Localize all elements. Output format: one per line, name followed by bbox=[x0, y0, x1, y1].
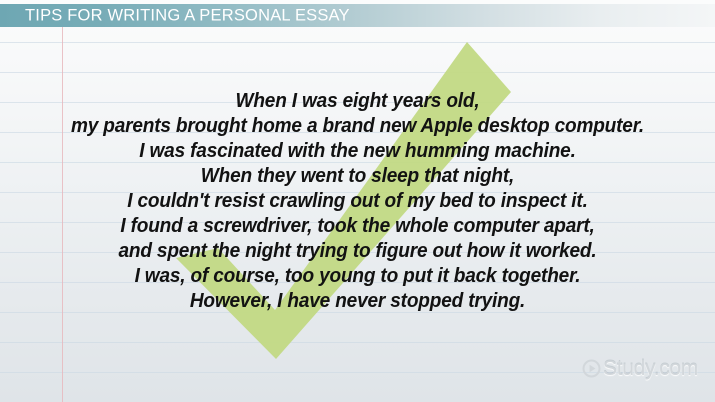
paper-rule bbox=[0, 42, 715, 43]
essay-line: I was, of course, too young to put it ba… bbox=[25, 263, 690, 288]
essay-line: and spent the night trying to figure out… bbox=[25, 238, 690, 263]
study-com-logo: Study.com bbox=[582, 358, 698, 379]
play-circle-icon bbox=[582, 359, 601, 378]
essay-line: my parents brought home a brand new Appl… bbox=[25, 113, 690, 138]
essay-line: When I was eight years old, bbox=[25, 88, 690, 113]
slide-title-bar: TIPS FOR WRITING A PERSONAL ESSAY bbox=[0, 4, 715, 27]
video-slide: TIPS FOR WRITING A PERSONAL ESSAY When I… bbox=[0, 0, 715, 402]
page-title: TIPS FOR WRITING A PERSONAL ESSAY bbox=[25, 6, 350, 25]
essay-line: I was fascinated with the new humming ma… bbox=[25, 138, 690, 163]
essay-line: However, I have never stopped trying. bbox=[25, 288, 690, 313]
essay-line: When they went to sleep that night, bbox=[25, 163, 690, 188]
essay-line: I found a screwdriver, took the whole co… bbox=[25, 213, 690, 238]
paper-rule bbox=[0, 342, 715, 343]
essay-text-block: When I was eight years old, my parents b… bbox=[0, 88, 715, 313]
essay-line: I couldn't resist crawling out of my bed… bbox=[25, 188, 690, 213]
paper-rule bbox=[0, 72, 715, 73]
logo-wordmark: Study.com bbox=[603, 358, 698, 379]
